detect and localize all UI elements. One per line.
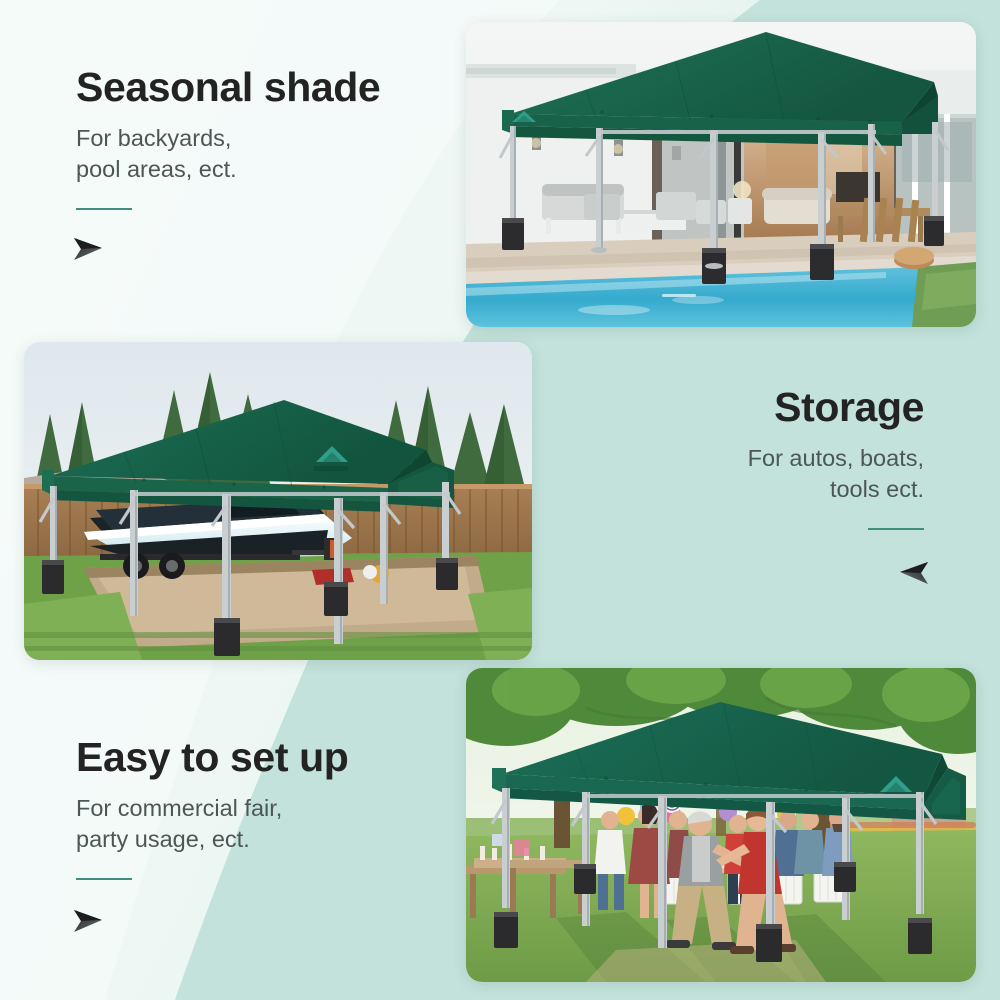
party-canopy-image [466, 668, 976, 982]
arrow-left-cursor-icon [896, 560, 930, 586]
feature-block-seasonal-shade: Seasonal shade For backyards, pool areas… [76, 66, 446, 210]
feature-subtitle-easy-to-set-up: For commercial fair, party usage, ect. [76, 793, 476, 856]
feature-divider-storage [868, 528, 924, 530]
photo-card-pool-patio[interactable] [466, 22, 976, 327]
feature-subtitle-storage: For autos, boats, tools ect. [600, 443, 924, 506]
feature-divider-easy-to-set-up [76, 878, 132, 880]
feature-title-storage: Storage [600, 386, 924, 429]
feature-divider-seasonal-shade [76, 208, 132, 210]
photo-card-party[interactable] [466, 668, 976, 982]
feature-subtitle-seasonal-shade: For backyards, pool areas, ect. [76, 123, 446, 186]
feature-title-easy-to-set-up: Easy to set up [76, 736, 476, 779]
feature-block-easy-to-set-up: Easy to set up For commercial fair, part… [76, 736, 476, 880]
feature-title-seasonal-shade: Seasonal shade [76, 66, 446, 109]
arrow-right-cursor-icon [72, 236, 106, 262]
arrow-right-cursor-icon [72, 908, 106, 934]
feature-block-storage: Storage For autos, boats, tools ect. [600, 386, 924, 530]
boat-carport-canopy-image [24, 342, 532, 660]
photo-card-boat-carport[interactable] [24, 342, 532, 660]
pool-patio-canopy-image [466, 22, 976, 327]
